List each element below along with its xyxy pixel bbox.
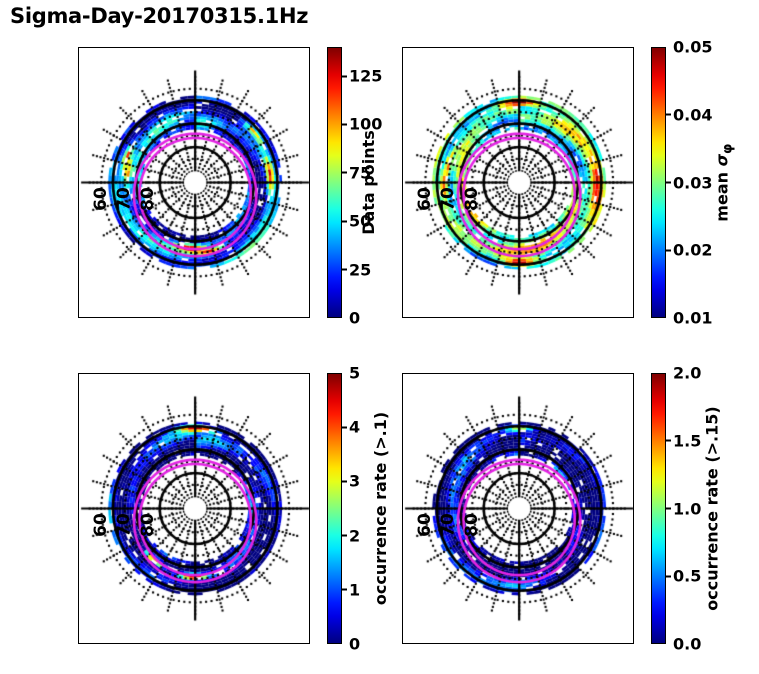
tick-label: 0 <box>349 635 360 654</box>
page-title: Sigma-Day-20170315.1Hz <box>10 4 308 28</box>
polar-plot-mean-sigma-phi: 607080 <box>402 47 634 318</box>
colorbar-tick-0.01: 0.01 <box>666 309 712 328</box>
polar-heatmap-canvas <box>78 373 310 644</box>
tick-mark <box>666 182 671 184</box>
tick-label: 125 <box>349 67 382 86</box>
colorbar-occurrence-rate-gt-point1: 012345 <box>327 373 342 644</box>
colorbar-label-data-points: Data points <box>358 130 377 235</box>
colorbar-gradient <box>651 373 666 644</box>
colorbar-tick-0.0: 0.0 <box>666 635 701 654</box>
polar-plot-occurrence-rate-gt-point1: 607080 <box>78 373 310 644</box>
tick-mark <box>342 426 347 428</box>
colorbar-tick-1.0: 1.0 <box>666 499 701 518</box>
colorbar-tick-3: 3 <box>342 472 360 491</box>
colorbar-tick-5: 5 <box>342 364 360 383</box>
colorbar-tick-0.04: 0.04 <box>666 105 712 124</box>
tick-label: 1.0 <box>673 499 701 518</box>
colorbar-gradient <box>327 373 342 644</box>
tick-label: 2.0 <box>673 364 701 383</box>
colorbar-gradient <box>327 47 342 318</box>
tick-mark <box>666 114 671 116</box>
colorbar-tick-125: 125 <box>342 67 382 86</box>
tick-label: 0.03 <box>673 173 712 192</box>
tick-label: 4 <box>349 418 360 437</box>
tick-label: 0.5 <box>673 567 701 586</box>
tick-label: 0.0 <box>673 635 701 654</box>
colorbar-label-mean-sigma-phi: mean σφ <box>713 143 736 221</box>
tick-mark <box>342 75 347 77</box>
polar-heatmap-canvas <box>402 47 634 318</box>
tick-mark <box>342 589 347 591</box>
colorbar-data-points: 0255075100125 <box>327 47 342 318</box>
colorbar-tick-4: 4 <box>342 418 360 437</box>
colorbar-mean-sigma-phi: 0.010.020.030.040.05 <box>651 47 666 318</box>
tick-mark <box>342 269 347 271</box>
polar-heatmap-canvas <box>402 373 634 644</box>
colorbar-label-occurrence-rate-gt-point1: occurrence rate (>.1) <box>371 411 390 604</box>
tick-mark <box>666 317 671 319</box>
tick-mark <box>342 643 347 645</box>
tick-mark <box>666 372 671 374</box>
colorbar-tick-2: 2 <box>342 526 360 545</box>
colorbar-tick-25: 25 <box>342 260 371 279</box>
tick-mark <box>666 440 671 442</box>
tick-label: 0.05 <box>673 38 712 57</box>
tick-mark <box>666 508 671 510</box>
tick-mark <box>342 172 347 174</box>
tick-mark <box>342 480 347 482</box>
tick-label: 5 <box>349 364 360 383</box>
tick-label: 0.04 <box>673 105 712 124</box>
colorbar-tick-1.5: 1.5 <box>666 431 701 450</box>
colorbar-tick-0.02: 0.02 <box>666 241 712 260</box>
tick-mark <box>342 220 347 222</box>
tick-label: 0 <box>349 309 360 328</box>
tick-label: 1.5 <box>673 431 701 450</box>
polar-plot-data-points: 607080 <box>78 47 310 318</box>
tick-label: 3 <box>349 472 360 491</box>
polar-heatmap-canvas <box>78 47 310 318</box>
tick-mark <box>666 643 671 645</box>
tick-label: 1 <box>349 580 360 599</box>
colorbar-tick-1: 1 <box>342 580 360 599</box>
figure-canvas: Sigma-Day-20170315.1Hz 60708002550751001… <box>0 0 759 674</box>
colorbar-tick-0.5: 0.5 <box>666 567 701 586</box>
colorbar-tick-0.03: 0.03 <box>666 173 712 192</box>
tick-mark <box>342 535 347 537</box>
tick-mark <box>342 123 347 125</box>
colorbar-tick-0: 0 <box>342 309 360 328</box>
tick-mark <box>342 317 347 319</box>
tick-mark <box>342 372 347 374</box>
tick-label: 0.01 <box>673 309 712 328</box>
colorbar-label-occurrence-rate-gt-point15: occurrence rate (>.15) <box>703 406 722 610</box>
colorbar-tick-0.05: 0.05 <box>666 38 712 57</box>
tick-label: 25 <box>349 260 371 279</box>
tick-mark <box>666 46 671 48</box>
polar-plot-occurrence-rate-gt-point15: 607080 <box>402 373 634 644</box>
colorbar-occurrence-rate-gt-point15: 0.00.51.01.52.0 <box>651 373 666 644</box>
tick-mark <box>666 575 671 577</box>
tick-label: 2 <box>349 526 360 545</box>
colorbar-gradient <box>651 47 666 318</box>
colorbar-tick-2.0: 2.0 <box>666 364 701 383</box>
colorbar-tick-0: 0 <box>342 635 360 654</box>
tick-label: 0.02 <box>673 241 712 260</box>
tick-mark <box>666 249 671 251</box>
